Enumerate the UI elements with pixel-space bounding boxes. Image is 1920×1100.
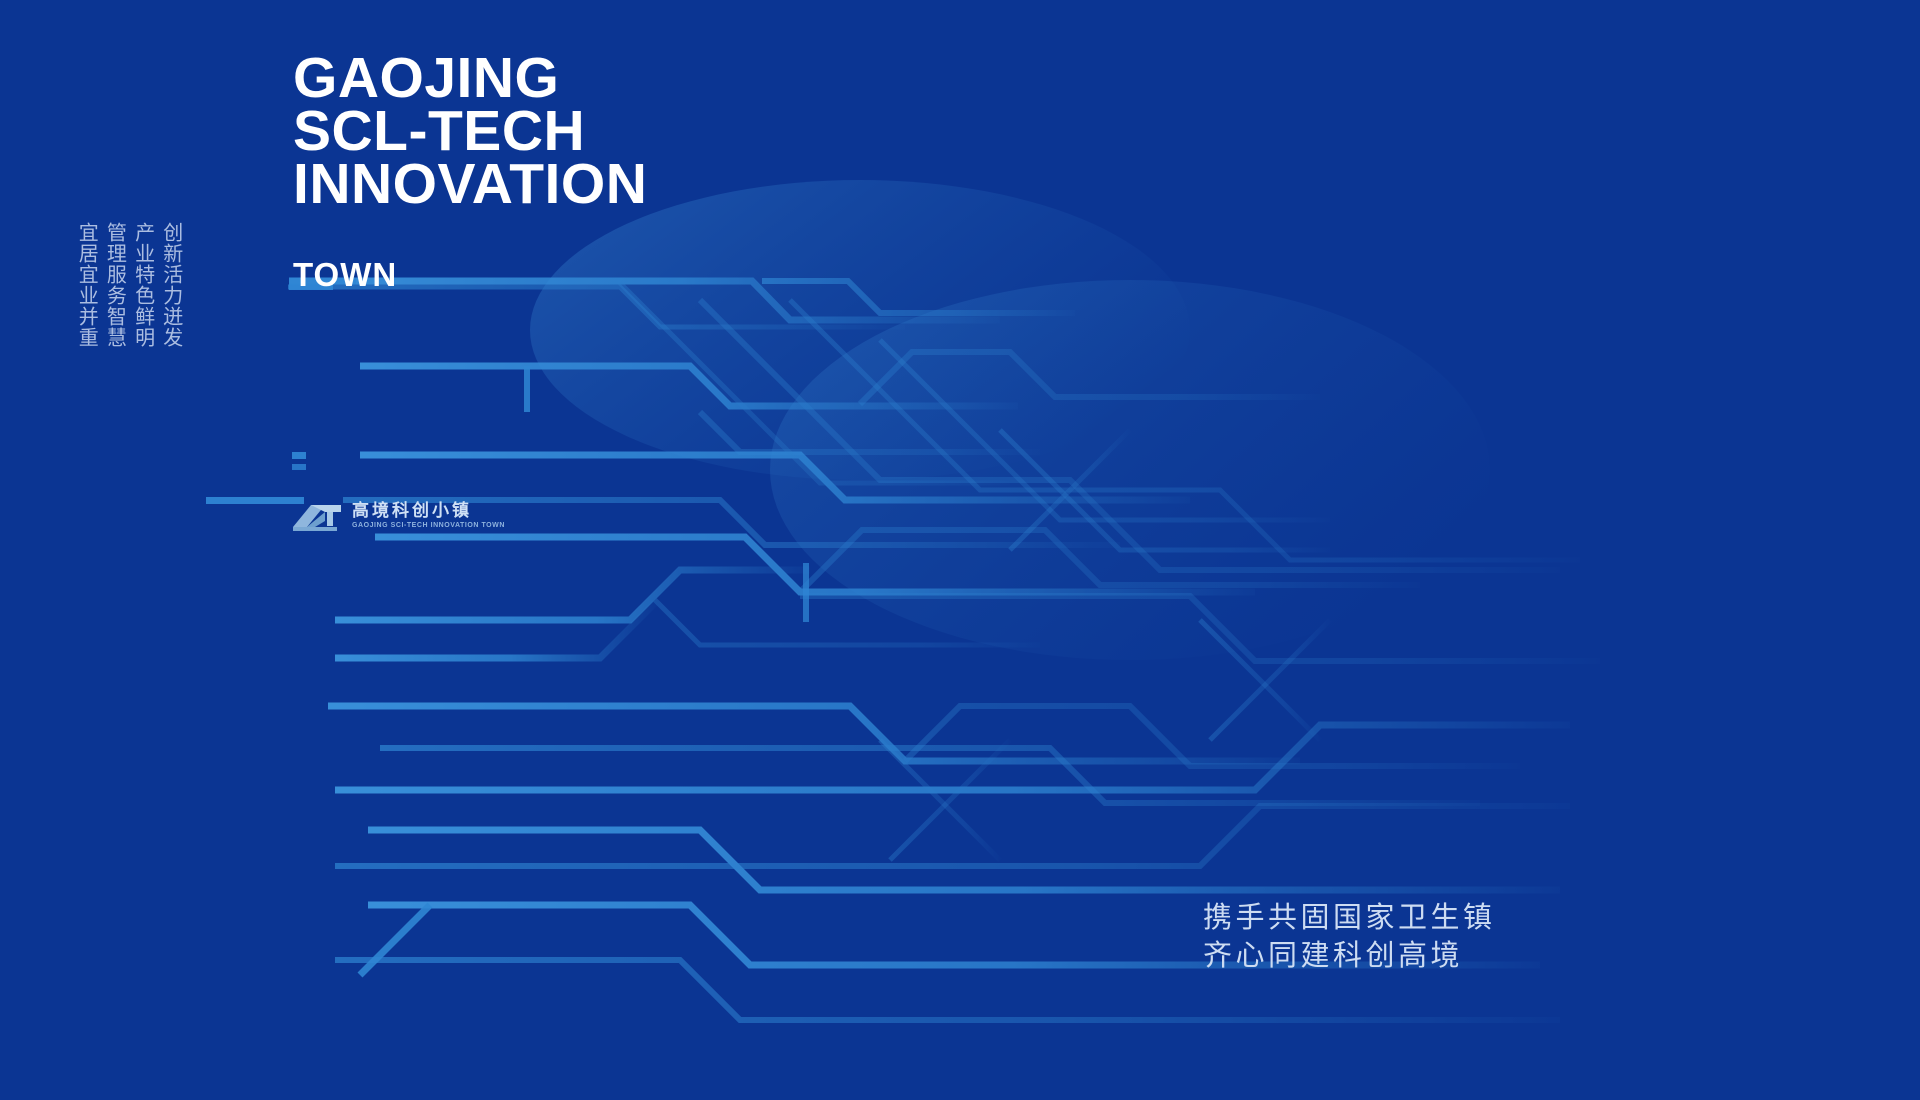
vertical-slogan-line-4: 宜居宜业并重 [76, 222, 97, 348]
headline-line-1: GAOJING [293, 52, 647, 105]
vertical-slogan-line-3: 管理服务智慧 [104, 222, 125, 348]
logo-chinese-name: 高境科创小镇 [352, 502, 505, 520]
vertical-slogan-line-2: 产业特色鲜明 [132, 222, 153, 348]
circuit-background-artwork [0, 0, 1920, 1100]
headline-line-2: SCL-TECH [293, 105, 647, 158]
headline-line-4: TOWN [293, 258, 397, 291]
headline-line-3: INNOVATION [293, 158, 647, 211]
poster-canvas: 创新活力迸发 产业特色鲜明 管理服务智慧 宜居宜业并重 GAOJING SCL-… [0, 0, 1920, 1100]
house-roof-logo-mark-icon [291, 497, 343, 535]
bottom-slogan-line-1: 携手共固国家卫生镇 [1203, 898, 1496, 936]
vertical-slogan-block: 创新活力迸发 产业特色鲜明 管理服务智慧 宜居宜业并重 [76, 222, 182, 348]
bottom-slogan: 携手共固国家卫生镇 齐心同建科创高境 [1203, 898, 1496, 974]
page-title: GAOJING SCL-TECH INNOVATION [293, 52, 647, 211]
brand-logo[interactable]: 高境科创小镇 GAOJING SCI-TECH INNOVATION TOWN [291, 497, 505, 535]
bottom-slogan-line-2: 齐心同建科创高境 [1203, 936, 1496, 974]
logo-english-name: GAOJING SCI-TECH INNOVATION TOWN [352, 522, 505, 530]
vertical-slogan-line-1: 创新活力迸发 [161, 222, 182, 348]
